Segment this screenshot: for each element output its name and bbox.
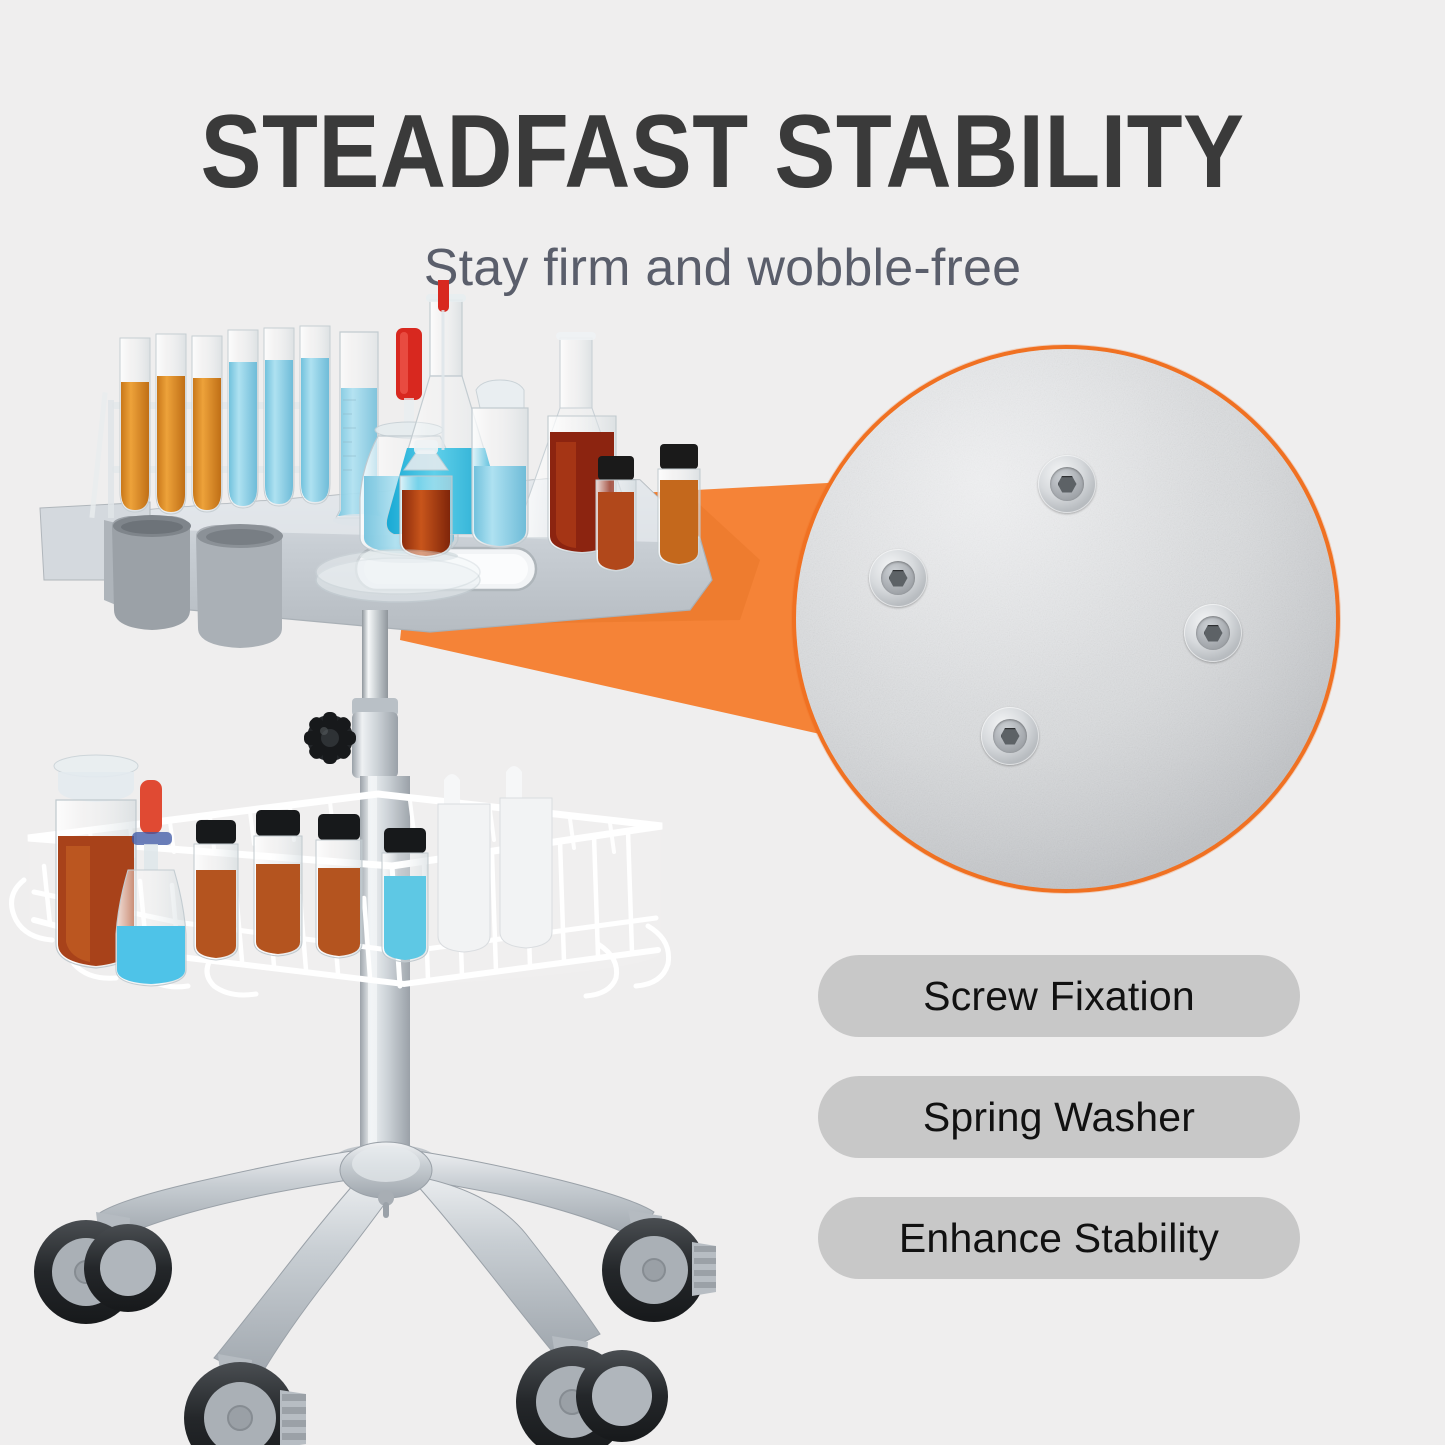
test-tube: [228, 330, 258, 508]
test-tube: [156, 334, 186, 514]
hex-screw-icon: [1184, 604, 1242, 662]
reagent-vial: [254, 810, 302, 956]
caster-wheel: [184, 1354, 306, 1445]
test-tube: [300, 326, 330, 504]
cup-holder-icon: [196, 524, 283, 648]
reagent-vial: [316, 814, 362, 958]
test-tube: [120, 338, 150, 512]
cup-holder-icon: [112, 515, 191, 630]
caster-brake-icon: [692, 1242, 716, 1296]
hex-socket-icon: [1001, 728, 1020, 745]
caster-wheel: [34, 1212, 172, 1324]
amber-vial: [596, 456, 636, 572]
squeeze-bottle: [500, 766, 552, 948]
feature-pill-screw-fixation: Screw Fixation: [818, 955, 1300, 1037]
reagent-vial: [382, 828, 428, 962]
hex-screw-icon: [1038, 455, 1096, 513]
magnified-detail-circle: [792, 345, 1340, 893]
amber-vial: [658, 444, 700, 566]
product-illustration-rolling-cart: [0, 280, 790, 1445]
test-tube: [264, 328, 294, 506]
metal-grain-texture: [796, 349, 1336, 889]
height-adjustment-knob[interactable]: [304, 712, 398, 778]
caster-brake-icon: [280, 1390, 306, 1445]
feature-pill-enhance-stability: Enhance Stability: [818, 1197, 1300, 1279]
test-tube: [192, 336, 222, 512]
feature-pill-spring-washer: Spring Washer: [818, 1076, 1300, 1158]
reagent-bottle: [472, 380, 528, 548]
hex-screw-icon: [869, 549, 927, 607]
petri-dish: [316, 550, 480, 602]
reagent-vial: [194, 820, 238, 960]
hex-socket-icon: [1204, 625, 1223, 642]
page-title: STEADFAST STABILITY: [87, 100, 1359, 204]
hex-screw-icon: [981, 707, 1039, 765]
caster-wheel: [516, 1336, 668, 1445]
header-block: STEADFAST STABILITY Stay firm and wobble…: [0, 0, 1445, 298]
caster-group: [34, 1210, 716, 1445]
hex-socket-icon: [1058, 476, 1077, 493]
hex-socket-icon: [889, 570, 908, 587]
feature-list: Screw Fixation Spring Washer Enhance Sta…: [818, 955, 1300, 1318]
